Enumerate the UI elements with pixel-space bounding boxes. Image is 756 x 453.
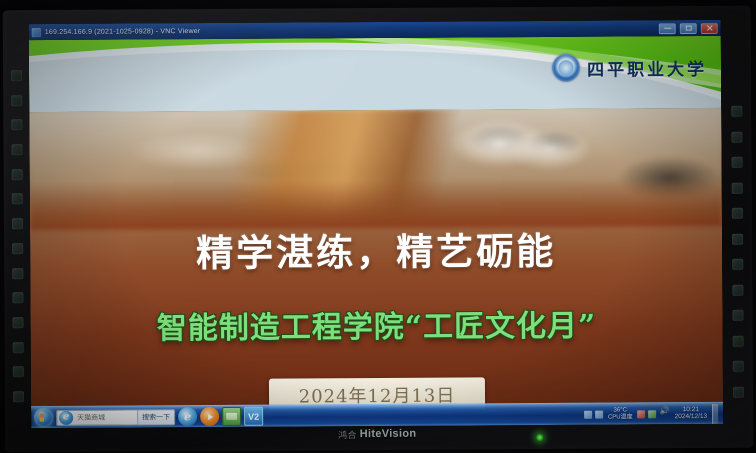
show-desktop-button[interactable] bbox=[712, 403, 718, 423]
tray-action-center-icon[interactable] bbox=[595, 410, 603, 418]
bezel-button[interactable] bbox=[731, 131, 742, 142]
bezel-button[interactable] bbox=[731, 106, 742, 117]
bezel-button[interactable] bbox=[732, 361, 743, 372]
brand-name-en: HiteVision bbox=[360, 428, 417, 440]
bezel-button[interactable] bbox=[731, 157, 742, 168]
university-seal-icon bbox=[552, 54, 580, 82]
vnc-window-title: 169.254.166.9 (2021-1025-0928) - VNC Vie… bbox=[45, 25, 655, 36]
search-button[interactable]: 搜索一下 bbox=[137, 409, 174, 425]
presentation-slide: 四平职业大学 精学湛练，精艺砺能 智能制造工程学院“工匠文化月” 2024年12… bbox=[29, 36, 723, 412]
bezel-button[interactable] bbox=[731, 182, 742, 193]
search-input[interactable]: 天猫商城 bbox=[75, 412, 137, 422]
monitor-bottom-bezel: 鸿合 HiteVision bbox=[31, 422, 723, 446]
bezel-button[interactable] bbox=[12, 317, 23, 328]
power-led-indicator bbox=[536, 434, 543, 441]
taskbar-media-player-icon[interactable] bbox=[200, 407, 219, 426]
bezel-button[interactable] bbox=[12, 268, 23, 279]
bezel-button[interactable] bbox=[732, 259, 743, 270]
bezel-button[interactable] bbox=[12, 366, 23, 377]
tray-security-icon[interactable] bbox=[638, 410, 646, 418]
cpu-temp-label: CPU温度 bbox=[608, 414, 633, 420]
bezel-button[interactable] bbox=[11, 194, 22, 205]
display-screen: 169.254.166.9 (2021-1025-0928) - VNC Vie… bbox=[29, 20, 723, 428]
vnc-app-icon bbox=[32, 28, 41, 37]
bezel-button[interactable] bbox=[732, 233, 743, 244]
tray-network-icon[interactable] bbox=[649, 410, 657, 418]
slide-header-banner: 四平职业大学 bbox=[29, 36, 721, 112]
browser-search-widget[interactable]: 天猫商城 搜索一下 bbox=[56, 409, 175, 426]
cpu-temperature-indicator[interactable]: 36°C CPU温度 bbox=[606, 408, 635, 420]
bezel-button[interactable] bbox=[732, 336, 743, 347]
bezel-button[interactable] bbox=[732, 284, 743, 295]
craftsman-tools-photo bbox=[29, 108, 722, 230]
hitevision-interactive-display: 169.254.166.9 (2021-1025-0928) - VNC Vie… bbox=[3, 6, 754, 453]
university-name: 四平职业大学 bbox=[587, 54, 707, 80]
slide-headline: 精学湛练，精艺砺能 bbox=[30, 220, 722, 278]
bezel-button[interactable] bbox=[732, 387, 743, 398]
bezel-button[interactable] bbox=[12, 243, 23, 254]
bezel-button[interactable] bbox=[11, 120, 22, 131]
bezel-button[interactable] bbox=[11, 144, 22, 155]
internet-explorer-icon bbox=[59, 410, 73, 424]
bezel-button[interactable] bbox=[11, 218, 22, 229]
bezel-button[interactable] bbox=[11, 70, 22, 81]
bezel-button[interactable] bbox=[731, 208, 742, 219]
volume-icon[interactable] bbox=[660, 410, 670, 418]
start-button[interactable] bbox=[34, 408, 53, 427]
taskbar-clock[interactable]: 10:21 2024/12/13 bbox=[673, 407, 710, 421]
bezel-button[interactable] bbox=[12, 391, 23, 402]
taskbar-internet-explorer-icon[interactable]: e bbox=[178, 407, 197, 426]
university-logo: 四平职业大学 bbox=[552, 50, 707, 85]
brand-logo: 鸿合 HiteVision bbox=[338, 427, 416, 440]
close-button[interactable] bbox=[701, 22, 718, 33]
maximize-button[interactable] bbox=[680, 23, 697, 34]
clock-date: 2024/12/13 bbox=[675, 413, 708, 420]
right-bezel-button-column[interactable] bbox=[725, 102, 749, 402]
slide-body: 精学湛练，精艺砺能 智能制造工程学院“工匠文化月” 2024年12月13日 bbox=[29, 108, 723, 412]
left-bezel-button-column[interactable] bbox=[5, 66, 29, 406]
slide-subheadline: 智能制造工程学院“工匠文化月” bbox=[30, 300, 722, 348]
brand-name-cn: 鸿合 bbox=[338, 428, 357, 441]
taskbar-file-explorer-icon[interactable] bbox=[222, 407, 241, 426]
bezel-button[interactable] bbox=[11, 95, 22, 106]
tray-overflow-icon[interactable] bbox=[584, 410, 592, 418]
bezel-button[interactable] bbox=[12, 292, 23, 303]
bezel-button[interactable] bbox=[11, 169, 22, 180]
bezel-button[interactable] bbox=[732, 310, 743, 321]
bezel-button[interactable] bbox=[12, 342, 23, 353]
taskbar-v2-app-icon[interactable]: V2 bbox=[244, 407, 263, 426]
room-photograph: 169.254.166.9 (2021-1025-0928) - VNC Vie… bbox=[0, 0, 756, 453]
minimize-button[interactable] bbox=[659, 23, 676, 34]
